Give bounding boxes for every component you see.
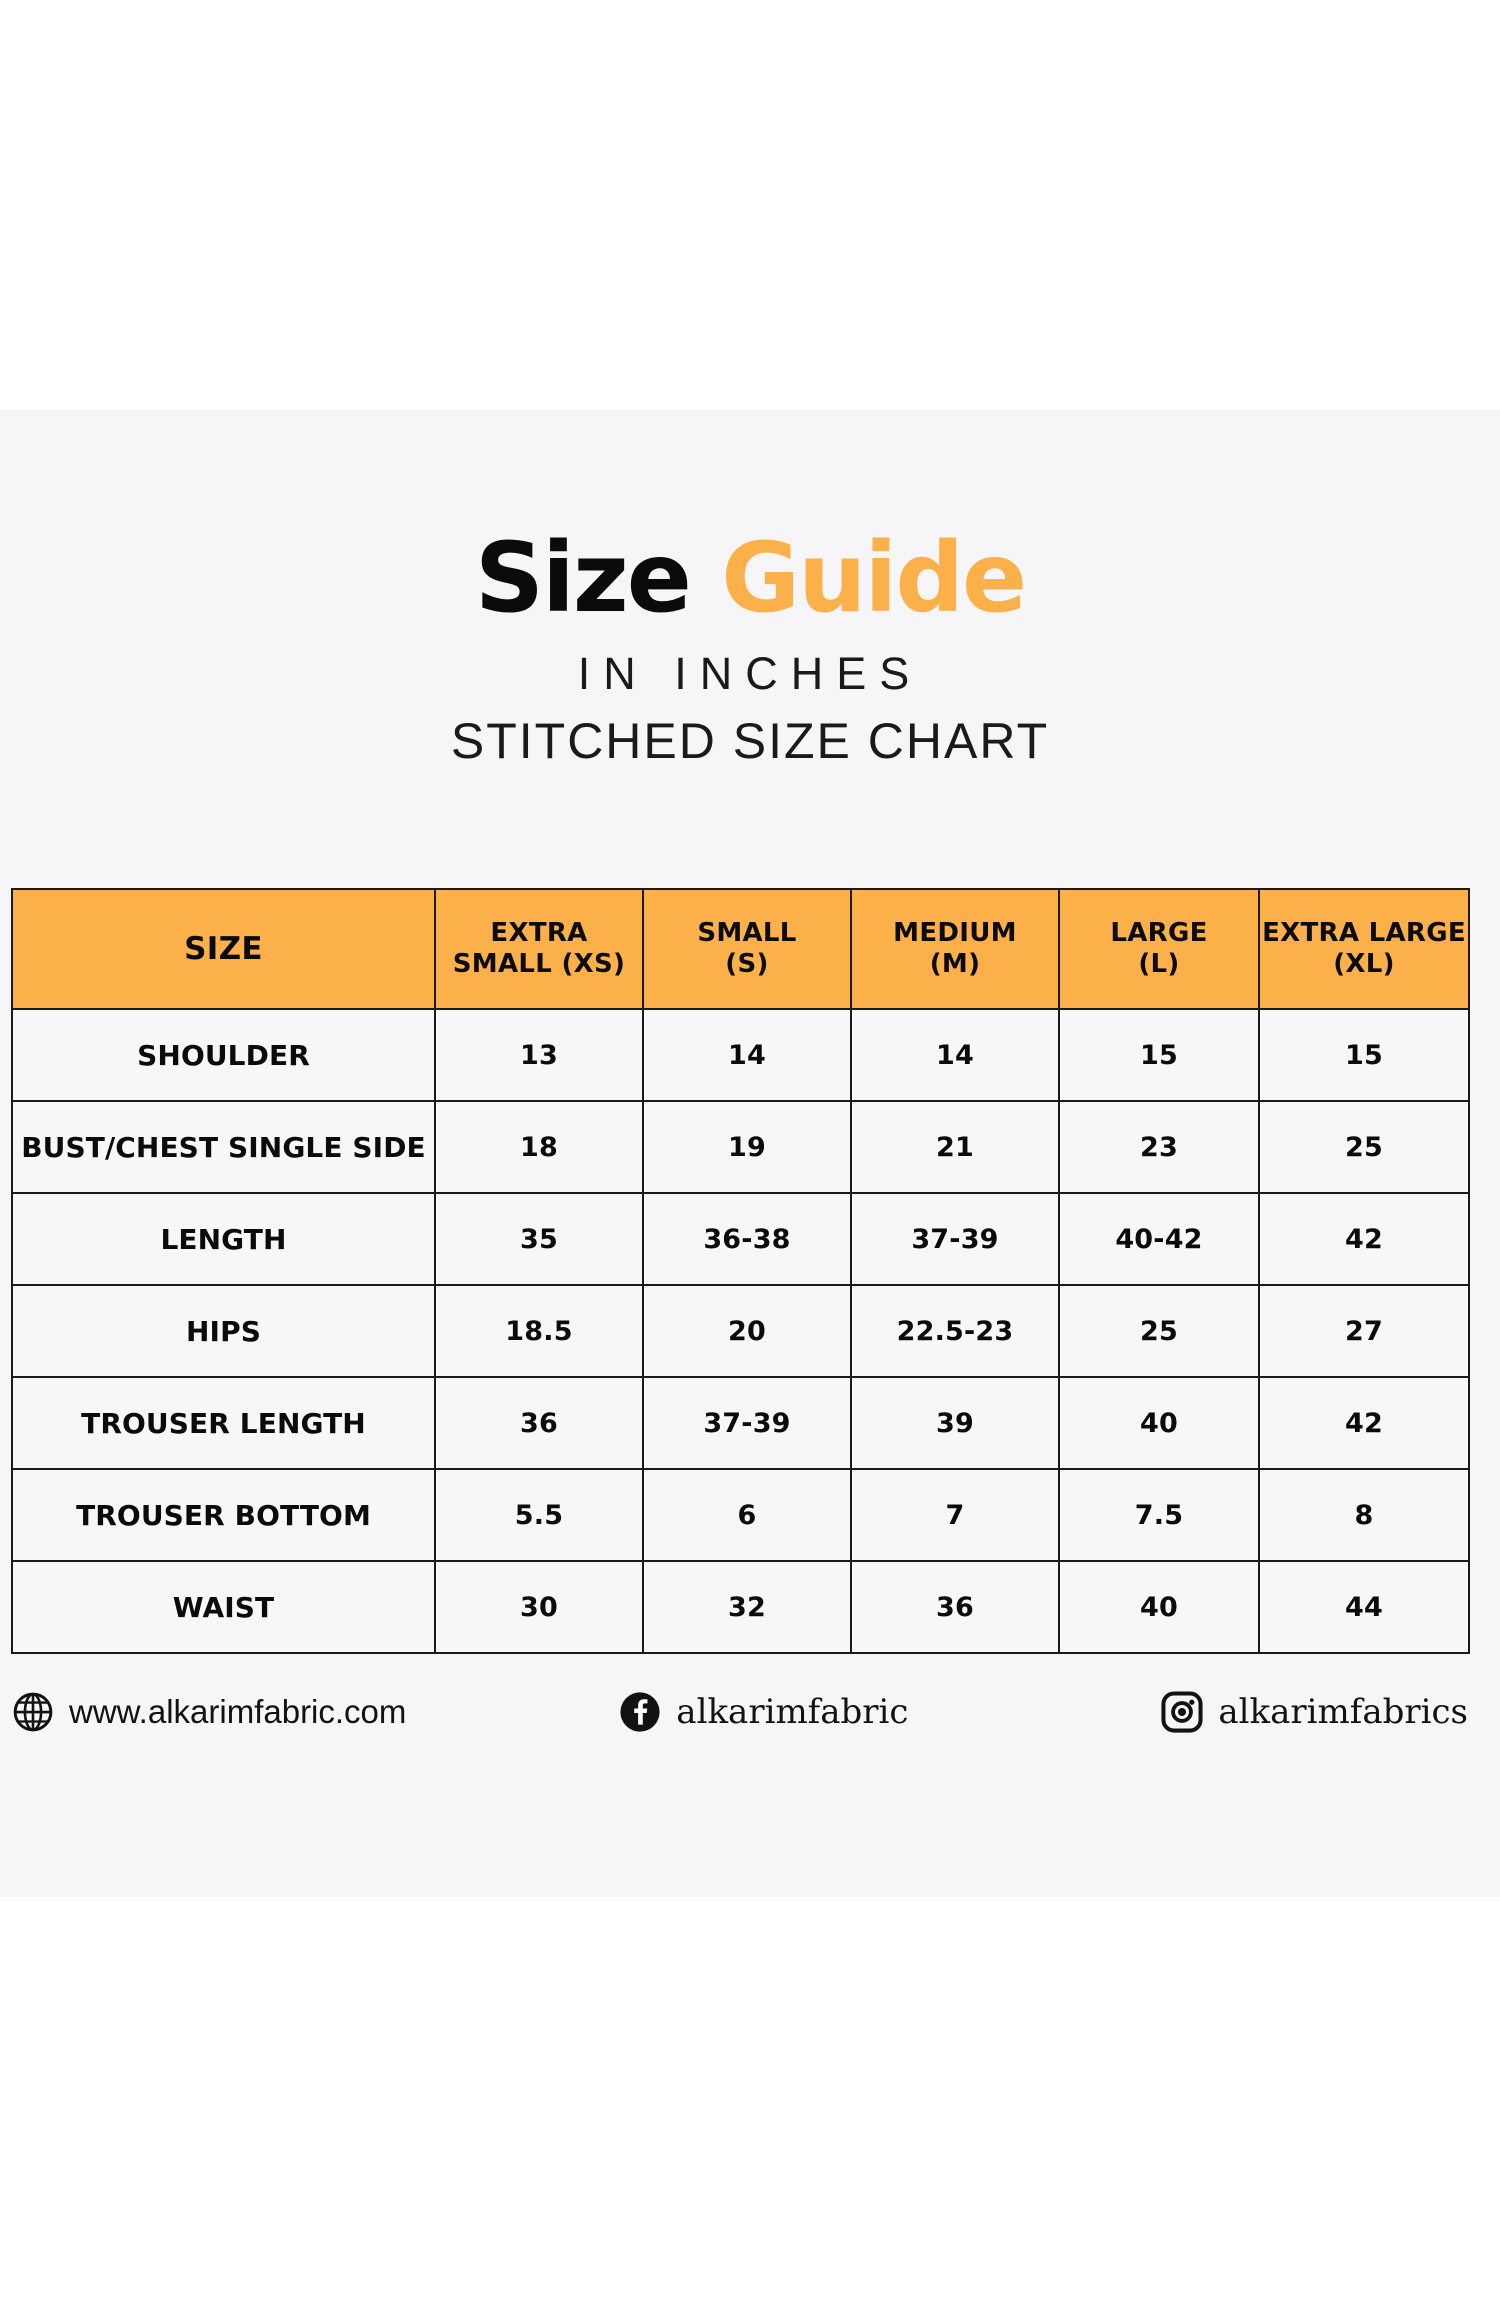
title-subtitle-chart: STITCHED SIZE CHART	[0, 712, 1500, 770]
globe-icon	[11, 1690, 55, 1734]
table-row: HIPS 18.5 20 22.5-23 25 27	[12, 1285, 1469, 1377]
cell-shoulder-s: 14	[643, 1009, 851, 1101]
cell-bust-s: 19	[643, 1101, 851, 1193]
footer-website[interactable]: www.alkarimfabric.com	[11, 1690, 406, 1734]
cell-shoulder-m: 14	[851, 1009, 1059, 1101]
cell-hips-m: 22.5-23	[851, 1285, 1059, 1377]
cell-trouser-bottom-xl: 8	[1259, 1469, 1469, 1561]
table-header: SIZE EXTRA SMALL (XS) SMALL (S) MEDIUM (…	[12, 889, 1469, 1009]
cell-shoulder-xs: 13	[435, 1009, 643, 1101]
column-header-l: LARGE (L)	[1059, 889, 1259, 1009]
cell-waist-xs: 30	[435, 1561, 643, 1653]
table-row: TROUSER BOTTOM 5.5 6 7 7.5 8	[12, 1469, 1469, 1561]
size-chart-table: SIZE EXTRA SMALL (XS) SMALL (S) MEDIUM (…	[11, 888, 1470, 1654]
cell-trouser-length-xl: 42	[1259, 1377, 1469, 1469]
cell-length-xl: 42	[1259, 1193, 1469, 1285]
cell-bust-xs: 18	[435, 1101, 643, 1193]
cell-trouser-bottom-l: 7.5	[1059, 1469, 1259, 1561]
column-header-size: SIZE	[12, 889, 435, 1009]
cell-trouser-length-m: 39	[851, 1377, 1059, 1469]
row-label-bust-chest-single-side: BUST/CHEST SINGLE SIDE	[12, 1101, 435, 1193]
row-label-hips: HIPS	[12, 1285, 435, 1377]
cell-trouser-length-xs: 36	[435, 1377, 643, 1469]
cell-length-s: 36-38	[643, 1193, 851, 1285]
instagram-icon	[1160, 1690, 1204, 1734]
cell-waist-m: 36	[851, 1561, 1059, 1653]
cell-trouser-length-l: 40	[1059, 1377, 1259, 1469]
cell-length-m: 37-39	[851, 1193, 1059, 1285]
row-label-trouser-bottom: TROUSER BOTTOM	[12, 1469, 435, 1561]
cell-waist-xl: 44	[1259, 1561, 1469, 1653]
size-guide-page: Size Guide IN INCHES STITCHED SIZE CHART…	[0, 0, 1500, 2300]
column-header-xl: EXTRA LARGE (XL)	[1259, 889, 1469, 1009]
column-header-xs: EXTRA SMALL (XS)	[435, 889, 643, 1009]
footer-facebook[interactable]: alkarimfabric	[618, 1690, 908, 1734]
footer-social-bar: www.alkarimfabric.com alkarimfabric	[11, 1690, 1468, 1734]
table-row: TROUSER LENGTH 36 37-39 39 40 42	[12, 1377, 1469, 1469]
cell-waist-s: 32	[643, 1561, 851, 1653]
title-subtitle-units: IN INCHES	[0, 648, 1500, 700]
column-header-m: MEDIUM (M)	[851, 889, 1059, 1009]
cell-hips-s: 20	[643, 1285, 851, 1377]
cell-bust-l: 23	[1059, 1101, 1259, 1193]
table-row: WAIST 30 32 36 40 44	[12, 1561, 1469, 1653]
cell-hips-xl: 27	[1259, 1285, 1469, 1377]
table-row: LENGTH 35 36-38 37-39 40-42 42	[12, 1193, 1469, 1285]
cell-hips-l: 25	[1059, 1285, 1259, 1377]
column-header-s: SMALL (S)	[643, 889, 851, 1009]
cell-length-l: 40-42	[1059, 1193, 1259, 1285]
row-label-trouser-length: TROUSER LENGTH	[12, 1377, 435, 1469]
table-row: BUST/CHEST SINGLE SIDE 18 19 21 23 25	[12, 1101, 1469, 1193]
page-title-part-size: Size	[475, 522, 690, 634]
title-block: Size Guide IN INCHES STITCHED SIZE CHART	[0, 530, 1500, 770]
footer-instagram-text: alkarimfabrics	[1218, 1692, 1468, 1732]
cell-shoulder-xl: 15	[1259, 1009, 1469, 1101]
cell-waist-l: 40	[1059, 1561, 1259, 1653]
cell-bust-m: 21	[851, 1101, 1059, 1193]
table-row: SHOULDER 13 14 14 15 15	[12, 1009, 1469, 1101]
size-chart-table-wrapper: SIZE EXTRA SMALL (XS) SMALL (S) MEDIUM (…	[11, 888, 1468, 1654]
cell-trouser-length-s: 37-39	[643, 1377, 851, 1469]
facebook-icon	[618, 1690, 662, 1734]
cell-shoulder-l: 15	[1059, 1009, 1259, 1101]
footer-facebook-text: alkarimfabric	[676, 1692, 908, 1732]
page-title-part-guide: Guide	[721, 522, 1025, 634]
table-body: SHOULDER 13 14 14 15 15 BUST/CHEST SINGL…	[12, 1009, 1469, 1653]
row-label-waist: WAIST	[12, 1561, 435, 1653]
footer-website-text: www.alkarimfabric.com	[69, 1693, 406, 1731]
cell-hips-xs: 18.5	[435, 1285, 643, 1377]
cell-trouser-bottom-s: 6	[643, 1469, 851, 1561]
footer-instagram[interactable]: alkarimfabrics	[1160, 1690, 1468, 1734]
cell-length-xs: 35	[435, 1193, 643, 1285]
table-header-row: SIZE EXTRA SMALL (XS) SMALL (S) MEDIUM (…	[12, 889, 1469, 1009]
cell-trouser-bottom-m: 7	[851, 1469, 1059, 1561]
row-label-length: LENGTH	[12, 1193, 435, 1285]
cell-trouser-bottom-xs: 5.5	[435, 1469, 643, 1561]
cell-bust-xl: 25	[1259, 1101, 1469, 1193]
page-title: Size Guide	[0, 530, 1500, 626]
row-label-shoulder: SHOULDER	[12, 1009, 435, 1101]
